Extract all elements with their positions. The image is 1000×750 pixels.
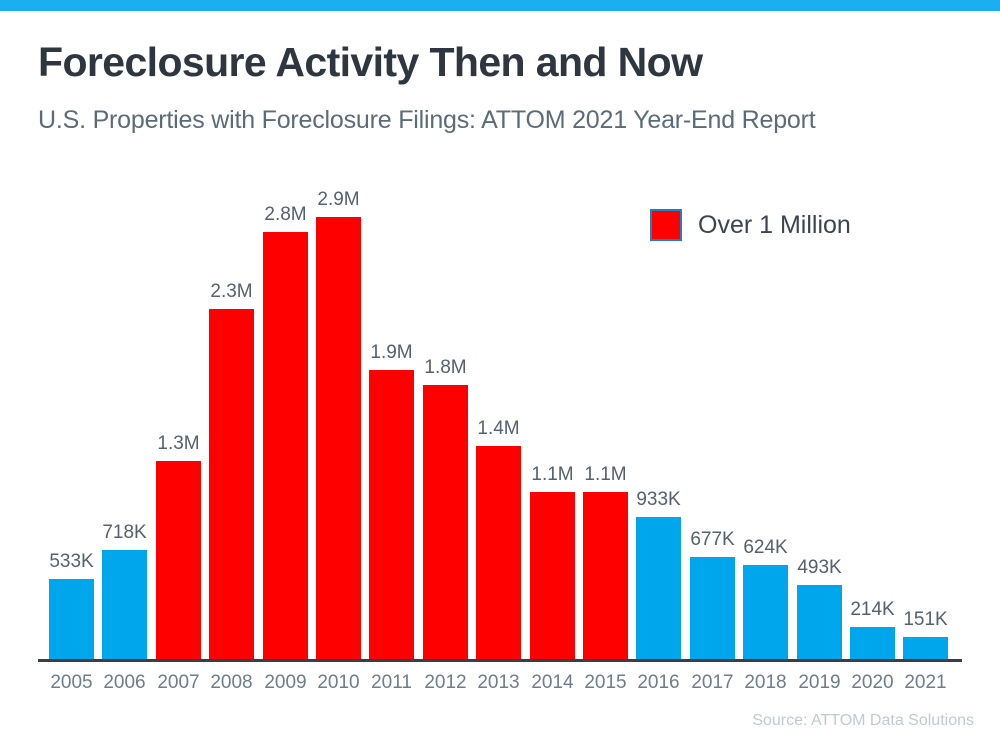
x-tick-2012: 2012 bbox=[423, 672, 468, 694]
x-tick-2017: 2017 bbox=[690, 672, 735, 694]
bar-group: 1.4M bbox=[476, 446, 521, 660]
bar-group: 214K bbox=[850, 627, 895, 660]
bar-group: 677K bbox=[690, 557, 735, 660]
bar-2011[interactable] bbox=[369, 370, 414, 660]
x-tick-2008: 2008 bbox=[209, 672, 254, 694]
x-tick-2011: 2011 bbox=[369, 672, 414, 694]
bar-2005[interactable] bbox=[49, 579, 94, 660]
bar-group: 2.8M bbox=[263, 232, 308, 660]
bar-value-label-2005: 533K bbox=[49, 551, 93, 573]
bar-2012[interactable] bbox=[423, 385, 468, 660]
bar-group: 493K bbox=[797, 585, 842, 660]
bar-group: 1.8M bbox=[423, 385, 468, 660]
bar-value-label-2019: 493K bbox=[797, 557, 841, 579]
chart-page: Foreclosure Activity Then and Now U.S. P… bbox=[0, 0, 1000, 750]
x-tick-2020: 2020 bbox=[850, 672, 895, 694]
bar-2007[interactable] bbox=[156, 461, 201, 660]
bar-value-label-2015: 1.1M bbox=[584, 464, 626, 486]
x-tick-2010: 2010 bbox=[316, 672, 361, 694]
bar-value-label-2017: 677K bbox=[690, 529, 734, 551]
x-tick-2014: 2014 bbox=[530, 672, 575, 694]
bar-value-label-2010: 2.9M bbox=[317, 189, 359, 211]
bar-group: 1.9M bbox=[369, 370, 414, 660]
bar-value-label-2020: 214K bbox=[850, 599, 894, 621]
bar-value-label-2014: 1.1M bbox=[531, 464, 573, 486]
bar-value-label-2006: 718K bbox=[102, 522, 146, 544]
bar-chart-plot: 533K718K1.3M2.3M2.8M2.9M1.9M1.8M1.4M1.1M… bbox=[0, 0, 1000, 750]
bar-value-label-2011: 1.9M bbox=[370, 342, 412, 364]
bar-2009[interactable] bbox=[263, 232, 308, 660]
bar-2013[interactable] bbox=[476, 446, 521, 660]
x-tick-2006: 2006 bbox=[102, 672, 147, 694]
bar-group: 933K bbox=[636, 517, 681, 660]
bar-2021[interactable] bbox=[903, 637, 948, 660]
bar-2020[interactable] bbox=[850, 627, 895, 660]
bar-value-label-2018: 624K bbox=[743, 537, 787, 559]
bar-2015[interactable] bbox=[583, 492, 628, 660]
bar-group: 624K bbox=[743, 565, 788, 660]
bar-group: 718K bbox=[102, 550, 147, 660]
bar-group: 151K bbox=[903, 637, 948, 660]
bar-value-label-2007: 1.3M bbox=[157, 433, 199, 455]
bar-group: 1.1M bbox=[583, 492, 628, 660]
bar-2008[interactable] bbox=[209, 309, 254, 660]
x-tick-2016: 2016 bbox=[636, 672, 681, 694]
bar-value-label-2013: 1.4M bbox=[477, 418, 519, 440]
x-tick-2009: 2009 bbox=[263, 672, 308, 694]
bar-value-label-2016: 933K bbox=[636, 489, 680, 511]
bar-group: 2.9M bbox=[316, 217, 361, 660]
x-tick-2007: 2007 bbox=[156, 672, 201, 694]
x-tick-2018: 2018 bbox=[743, 672, 788, 694]
bar-2019[interactable] bbox=[797, 585, 842, 660]
bar-group: 1.1M bbox=[530, 492, 575, 660]
bar-value-label-2008: 2.3M bbox=[210, 281, 252, 303]
x-tick-2019: 2019 bbox=[797, 672, 842, 694]
bar-group: 1.3M bbox=[156, 461, 201, 660]
bar-value-label-2021: 151K bbox=[903, 609, 947, 631]
x-tick-2021: 2021 bbox=[903, 672, 948, 694]
bar-2017[interactable] bbox=[690, 557, 735, 660]
bar-2018[interactable] bbox=[743, 565, 788, 660]
x-tick-2013: 2013 bbox=[476, 672, 521, 694]
bar-2010[interactable] bbox=[316, 217, 361, 660]
bar-group: 533K bbox=[49, 579, 94, 660]
source-attribution: Source: ATTOM Data Solutions bbox=[752, 712, 974, 730]
x-tick-2015: 2015 bbox=[583, 672, 628, 694]
x-tick-2005: 2005 bbox=[49, 672, 94, 694]
bar-2006[interactable] bbox=[102, 550, 147, 660]
bar-2014[interactable] bbox=[530, 492, 575, 660]
x-axis-line bbox=[38, 659, 962, 662]
bar-value-label-2009: 2.8M bbox=[264, 204, 306, 226]
bar-value-label-2012: 1.8M bbox=[424, 357, 466, 379]
bar-group: 2.3M bbox=[209, 309, 254, 660]
bar-2016[interactable] bbox=[636, 517, 681, 660]
